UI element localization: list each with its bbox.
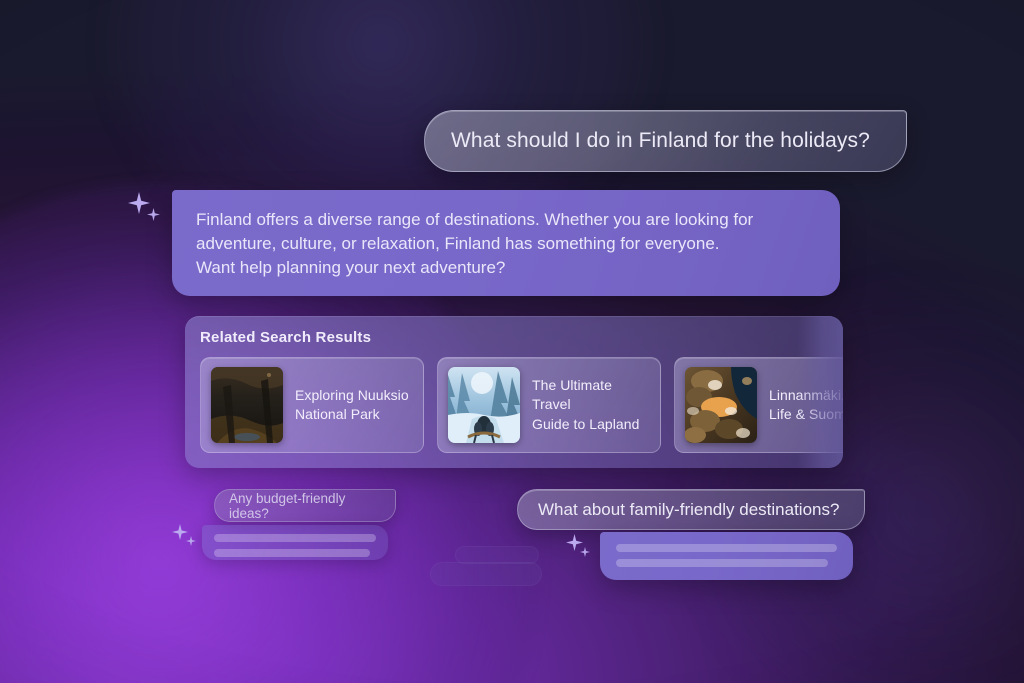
result-card-title-line-1: Linnanmäki, S <box>769 386 843 405</box>
result-card[interactable]: The Ultimate Travel Guide to Lapland <box>437 357 661 453</box>
snowy-husky-sled-photo <box>448 367 520 443</box>
result-card-title-line-2: Life & Suome <box>769 405 843 424</box>
result-card-title-line-2: Guide to Lapland <box>532 415 650 434</box>
assistant-message-line-3: Want help planning your next adventure? <box>196 256 816 280</box>
sparkle-star-large <box>128 192 150 214</box>
result-card-title-line-1: The Ultimate Travel <box>532 376 650 415</box>
sparkle-star-large <box>172 524 188 540</box>
skeleton-line <box>616 544 837 552</box>
sparkle-icon <box>172 524 200 552</box>
sparkle-icon <box>128 192 164 228</box>
suggestion-chip-family[interactable]: What about family-friendly destinations? <box>517 489 865 530</box>
ghost-shape <box>430 562 542 586</box>
suggestion-chip-budget[interactable]: Any budget-friendly ideas? <box>214 489 396 522</box>
assistant-loading-bubble-left <box>202 525 388 560</box>
sparkle-star-small <box>147 208 160 221</box>
assistant-message-bubble: Finland offers a diverse range of destin… <box>172 190 840 296</box>
sparkle-star-large <box>566 534 583 551</box>
dark-forest-trail-photo <box>211 367 283 443</box>
chat-stage: What should I do in Finland for the holi… <box>0 0 1024 683</box>
related-results-title: Related Search Results <box>200 329 843 346</box>
result-card[interactable]: Linnanmäki, S Life & Suome <box>674 357 843 453</box>
result-card[interactable]: Exploring Nuuksio National Park <box>200 357 424 453</box>
assistant-message-line-1: Finland offers a diverse range of destin… <box>196 208 816 232</box>
skeleton-line <box>214 534 376 542</box>
assistant-message-line-2: adventure, culture, or relaxation, Finla… <box>196 232 816 256</box>
result-card-title: Exploring Nuuksio National Park <box>295 386 409 425</box>
skeleton-line <box>616 559 828 567</box>
related-search-results-panel: Related Search Results <box>185 316 843 468</box>
sparkle-star-small <box>186 536 196 546</box>
result-card-title: The Ultimate Travel Guide to Lapland <box>532 376 650 434</box>
skeleton-line <box>214 549 370 557</box>
related-results-row: Exploring Nuuksio National Park <box>200 357 843 453</box>
suggestion-chip-family-label: What about family-friendly destinations? <box>538 500 839 520</box>
user-message-text: What should I do in Finland for the holi… <box>451 129 870 153</box>
result-card-title-line-1: Exploring Nuuksio <box>295 386 409 405</box>
sparkle-star-small <box>580 547 590 557</box>
orange-lichen-rocks-photo <box>685 367 757 443</box>
assistant-loading-bubble-right <box>600 532 853 580</box>
user-message-bubble: What should I do in Finland for the holi… <box>424 110 907 172</box>
suggestion-chip-budget-label: Any budget-friendly ideas? <box>229 491 381 521</box>
sparkle-icon <box>566 534 594 562</box>
result-card-title-line-2: National Park <box>295 405 409 424</box>
result-card-title: Linnanmäki, S Life & Suome <box>769 386 843 425</box>
